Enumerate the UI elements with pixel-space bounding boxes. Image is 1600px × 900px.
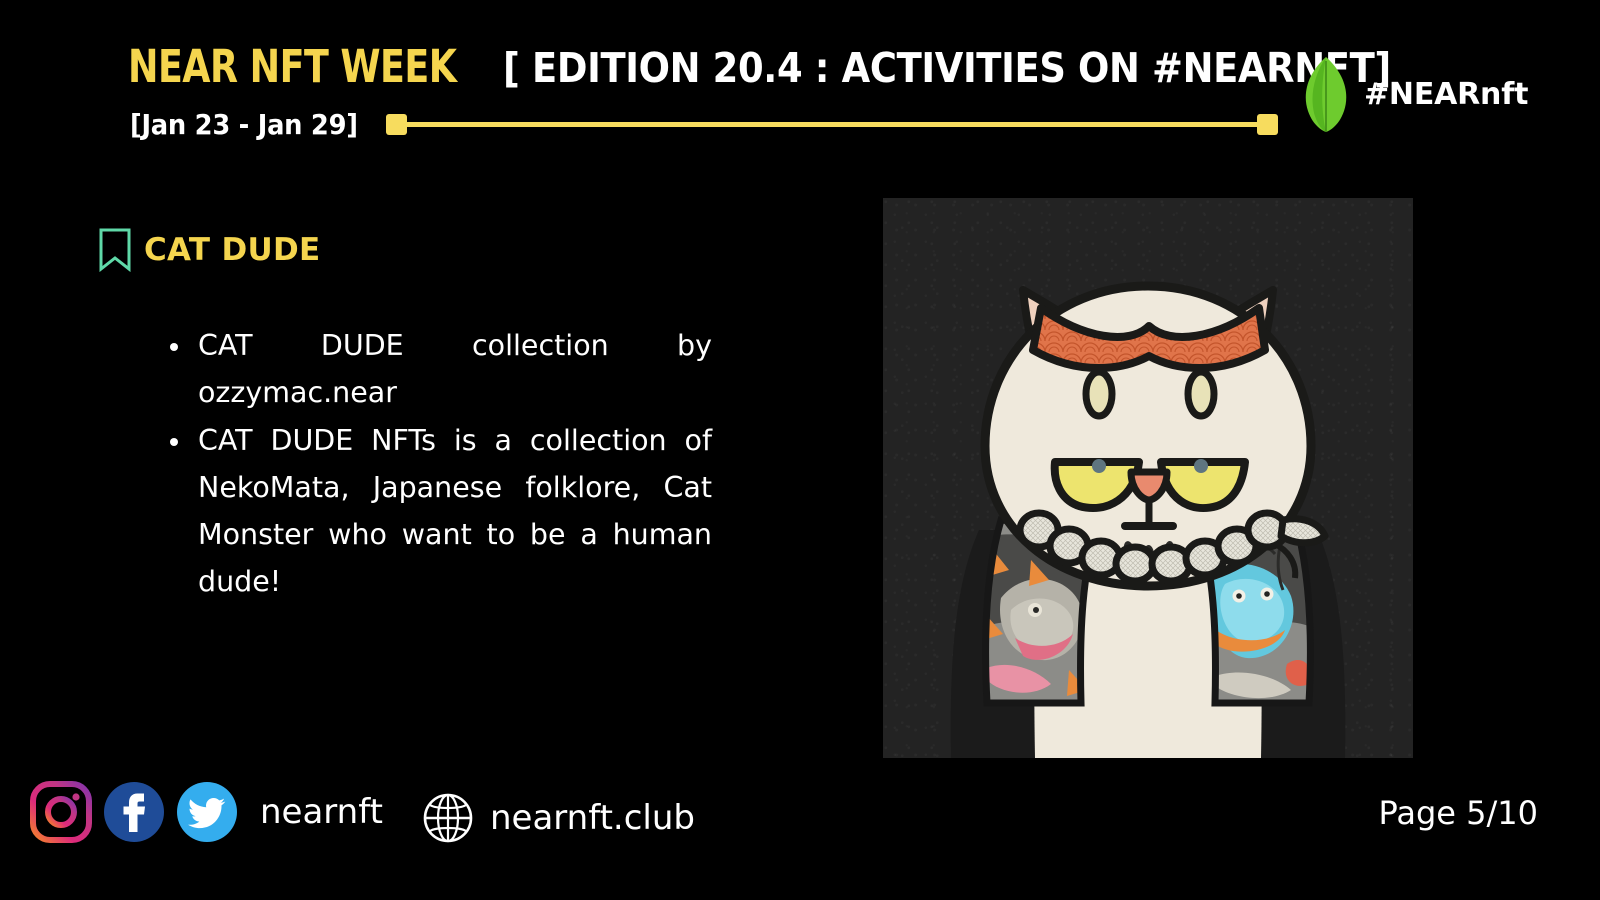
instagram-icon[interactable]	[30, 781, 92, 843]
twitter-icon[interactable]	[176, 781, 238, 843]
slide-footer: nearnft nearnft.club Page 5/10	[0, 778, 1600, 874]
header-date-row: [Jan 23 - Jan 29]	[130, 108, 1278, 141]
cat-dude-illustration	[883, 198, 1413, 758]
bookmark-icon	[98, 228, 132, 272]
social-handle: nearnft	[260, 792, 383, 832]
timeline-start-node	[386, 114, 407, 135]
list-item: CAT DUDE NFTs is a collection of NekoMat…	[160, 417, 712, 605]
list-item: CAT DUDE collection by ozzymac.near	[160, 322, 712, 416]
bullet-list: CAT DUDE collection by ozzymac.near CAT …	[160, 322, 712, 606]
brand-title: NEAR NFT WEEK	[128, 40, 456, 93]
week-timeline	[386, 114, 1278, 135]
facebook-icon[interactable]	[103, 781, 165, 843]
bullet-text: CAT DUDE collection by ozzymac.near	[198, 322, 712, 416]
timeline-bar	[407, 122, 1257, 127]
section-heading: CAT DUDE	[98, 228, 321, 272]
page-number: Page 5/10	[1379, 794, 1539, 832]
date-range-label: [Jan 23 - Jan 29]	[130, 108, 358, 141]
header-title-row: NEAR NFT WEEK [ EDITION 20.4 : ACTIVITIE…	[128, 40, 1490, 93]
globe-icon	[422, 792, 474, 844]
website-link[interactable]: nearnft.club	[422, 792, 695, 844]
section-title: CAT DUDE	[144, 232, 321, 268]
near-leaf-icon	[1300, 55, 1352, 133]
social-links: nearnft	[30, 781, 383, 843]
edition-title: [ EDITION 20.4 : ACTIVITIES ON #NEARNFT]	[503, 44, 1391, 92]
hashtag-label: #NEARnft	[1364, 77, 1528, 112]
slide-header: NEAR NFT WEEK [ EDITION 20.4 : ACTIVITIE…	[0, 0, 1600, 175]
brand-mark: #NEARnft	[1300, 55, 1528, 133]
timeline-end-node	[1257, 114, 1278, 135]
nft-artwork	[883, 198, 1413, 758]
website-label: nearnft.club	[490, 798, 695, 838]
bullet-text: CAT DUDE NFTs is a collection of NekoMat…	[198, 417, 712, 605]
